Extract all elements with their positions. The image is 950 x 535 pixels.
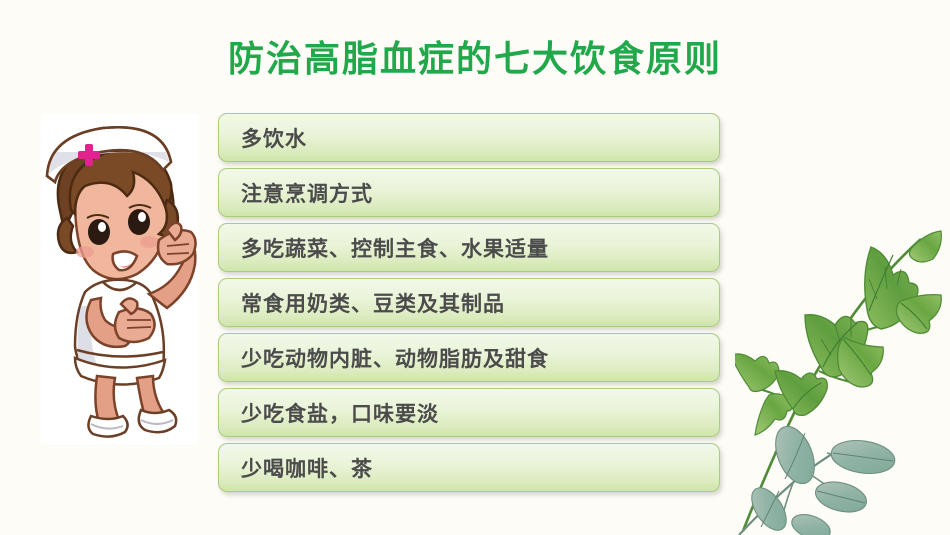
list-item[interactable]: 少吃动物内脏、动物脂肪及甜食 — [218, 333, 720, 382]
list-item-label: 多饮水 — [219, 123, 307, 153]
list-item-label: 多吃蔬菜、控制主食、水果适量 — [219, 233, 549, 263]
list-item-label: 常食用奶类、豆类及其制品 — [219, 288, 505, 318]
principles-list: 多饮水 注意烹调方式 多吃蔬菜、控制主食、水果适量 常食用奶类、豆类及其制品 少… — [218, 113, 720, 498]
list-item[interactable]: 注意烹调方式 — [218, 168, 720, 217]
list-item[interactable]: 少喝咖啡、茶 — [218, 443, 720, 492]
page-title: 防治高脂血症的七大饮食原则 — [0, 38, 950, 79]
list-item[interactable]: 常食用奶类、豆类及其制品 — [218, 278, 720, 327]
list-item-label: 少喝咖啡、茶 — [219, 453, 373, 483]
cartoon-nurse-illustration — [41, 114, 198, 444]
list-item-label: 少吃食盐，口味要淡 — [219, 398, 439, 428]
list-item[interactable]: 多吃蔬菜、控制主食、水果适量 — [218, 223, 720, 272]
watercolor-herb-sprig-illustration — [735, 205, 950, 535]
slide-canvas: 防治高脂血症的七大饮食原则 — [0, 0, 950, 535]
list-item[interactable]: 少吃食盐，口味要淡 — [218, 388, 720, 437]
list-item[interactable]: 多饮水 — [218, 113, 720, 162]
list-item-label: 少吃动物内脏、动物脂肪及甜食 — [219, 343, 549, 373]
list-item-label: 注意烹调方式 — [219, 178, 373, 208]
